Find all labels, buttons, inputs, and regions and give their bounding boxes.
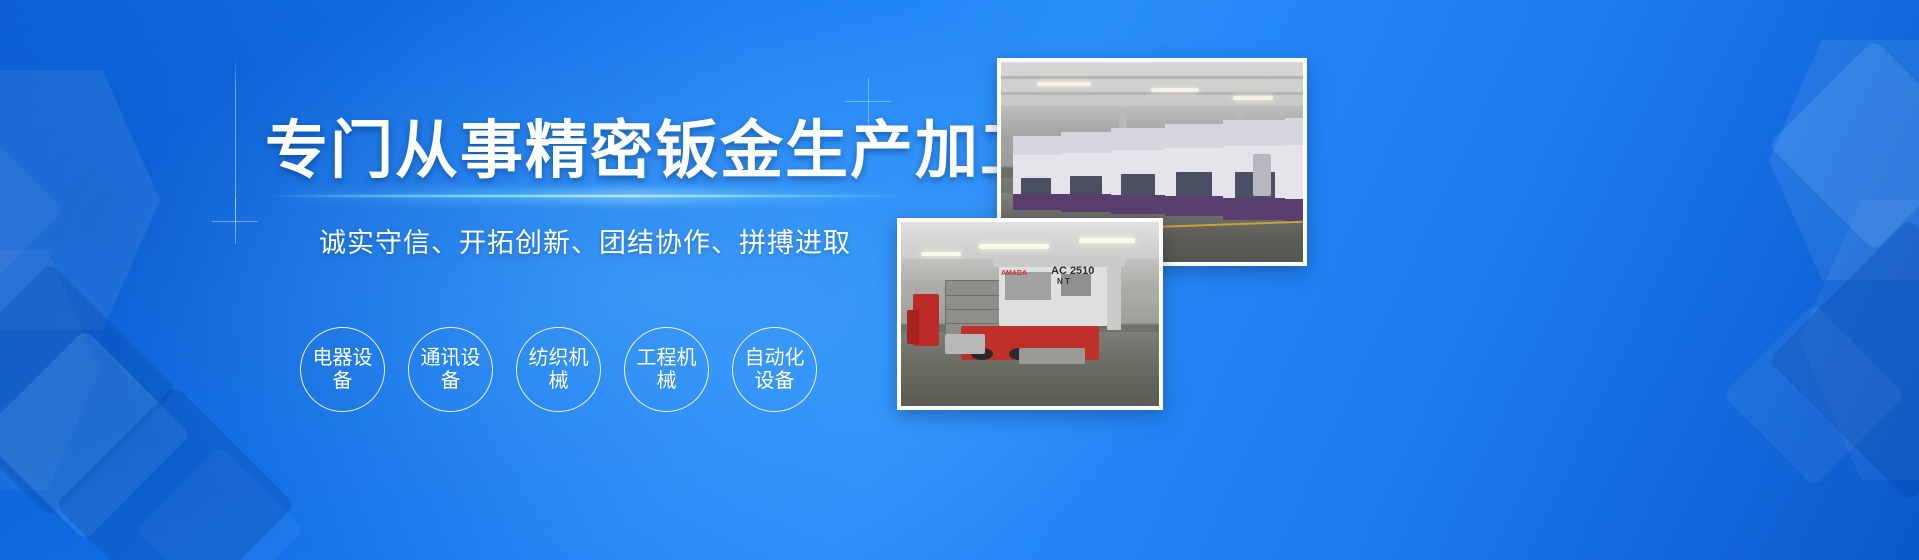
badge-line-1: 工程机 [637,347,697,369]
cnc-machine [1061,132,1113,212]
cnc-machine [1111,128,1167,214]
red-control-cabinet [907,310,919,344]
ceiling-beam [1001,92,1303,95]
cnc-machine [1165,124,1225,216]
badge-line-1: 电器设 [313,347,373,369]
ceiling-lamp [1151,88,1199,92]
category-badge-construction[interactable]: 工程机 械 [624,327,709,412]
category-badge-electrical[interactable]: 电器设 备 [300,327,385,412]
title-glow-underline [265,193,905,199]
ceiling-lamp [921,252,961,256]
cnc-machine [1013,136,1063,210]
unload-conveyor [1019,348,1085,364]
diamond-shape [1768,39,1919,251]
badge-line-2: 械 [637,370,697,392]
hero-subtitle: 诚实守信、开拓创新、团结协作、拼搏进取 [265,221,905,260]
ceiling-lamp [979,244,1049,249]
ceiling-beam [1001,76,1303,79]
workshop-photo-amada-press: AC 2510 N T AMADA [897,218,1163,410]
badge-line-2: 备 [421,370,481,392]
category-badge-automation[interactable]: 自动化 设备 [732,327,817,412]
category-badge-communication[interactable]: 通讯设 备 [408,327,493,412]
machine-model-suffix-label: N T [1057,278,1070,286]
ceiling-lamp [1037,82,1091,86]
badge-line-2: 械 [529,370,589,392]
hero-banner: 专门从事精密钣金生产加工 诚实守信、开拓创新、团结协作、拼搏进取 电器设 备 通… [0,0,1919,560]
ceiling-lamp [1079,238,1135,243]
photo-canvas: AC 2510 N T AMADA [901,222,1159,406]
badge-line-2: 设备 [745,370,805,392]
badge-line-1: 纺织机 [529,347,589,369]
badge-line-1: 自动化 [745,347,805,369]
category-badge-list: 电器设 备 通讯设 备 纺织机 械 工程机 械 自动化 设备 [300,327,817,412]
control-panel [1253,154,1271,196]
category-badge-textile[interactable]: 纺织机 械 [516,327,601,412]
page-title: 专门从事精密钣金生产加工 [265,120,905,183]
press-column [1107,260,1121,330]
material-table [945,334,985,354]
badge-line-1: 通讯设 [421,347,481,369]
badge-line-2: 备 [313,370,373,392]
hero-text-block: 专门从事精密钣金生产加工 诚实守信、开拓创新、团结协作、拼搏进取 [265,120,905,260]
ceiling-lamp [1233,96,1273,100]
vertical-rule [235,58,236,238]
cnc-machine [1285,118,1303,222]
machine-brand-label: AMADA [1001,270,1027,277]
machine-model-label: AC 2510 [1051,266,1094,277]
ceiling [1001,62,1303,110]
